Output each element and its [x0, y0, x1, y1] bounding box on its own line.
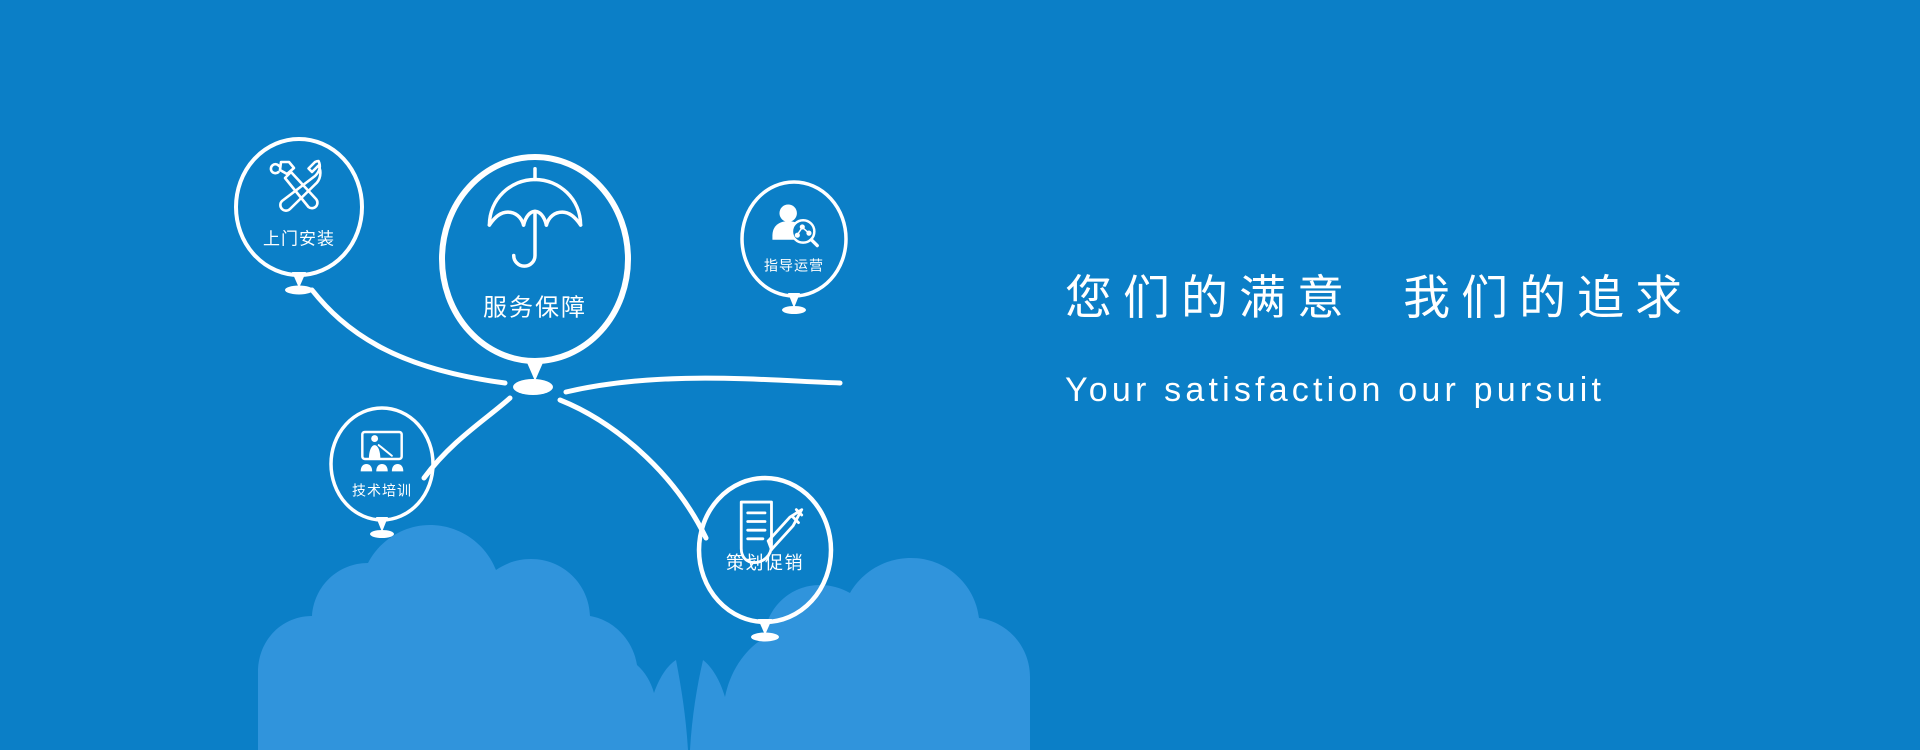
bubble-label-promotion: 策划促销 [726, 553, 804, 573]
bubble-foot-operations [782, 306, 806, 314]
bubble-ring-install [236, 139, 362, 275]
bubble-label-operations: 指导运营 [764, 258, 824, 274]
slogan-subhead: Your satisfaction our pursuit [1065, 371, 1825, 410]
hammer-wrench-icon [271, 161, 320, 211]
bubble-node-service[interactable]: 服务保障 [442, 157, 628, 381]
bubble-stem-service [525, 358, 545, 381]
bubble-foot-training [370, 530, 394, 538]
bubble-foot-promotion [751, 633, 779, 642]
bubble-label-service: 服务保障 [483, 294, 587, 321]
bubble-foot-install [285, 286, 313, 295]
bubble-ring-promotion [699, 478, 831, 622]
bubble-node-promotion[interactable]: 策划促销 [699, 478, 831, 642]
bubble-node-operations[interactable]: 指导运营 [742, 182, 846, 314]
bubble-label-training: 技术培训 [352, 483, 412, 499]
bubble-label-install: 上门安装 [263, 229, 335, 248]
bubble-node-training[interactable]: 技术培训 [331, 408, 433, 538]
umbrella-icon [489, 169, 580, 266]
bubble-node-install[interactable]: 上门安装 [236, 139, 362, 295]
slogan-block: 您们的满意 我们的追求 Your satisfaction our pursui… [1065, 270, 1825, 410]
classroom-training-icon [361, 432, 404, 471]
bubble-stem-training [376, 517, 388, 532]
bubble-stem-operations [788, 293, 800, 308]
user-analytics-icon [772, 204, 817, 245]
slogan-headline: 您们的满意 我们的追求 [1065, 270, 1825, 325]
service-banner: 上门安装 服务保障 [0, 0, 1920, 750]
